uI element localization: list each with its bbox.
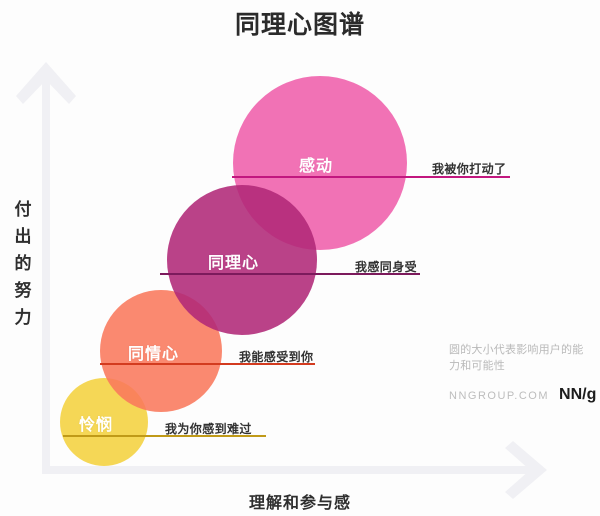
y-axis-title-char: 努 (10, 277, 36, 304)
brand-logo: NNGROUP.COM NN/g (449, 386, 596, 404)
y-axis-title-char: 的 (10, 250, 36, 277)
callout-quote-tongqingxin: 我能感受到你 (239, 348, 313, 365)
bubble-label-lianmin: 怜悯 (79, 411, 113, 435)
footnote-text: 圆的大小代表影响用户的能力和可能性 (449, 342, 594, 374)
y-axis-title-char: 力 (10, 304, 36, 331)
callout-quote-tonglixin: 我感同身受 (355, 258, 417, 275)
y-axis-title: 付出的努力 (10, 196, 36, 331)
bubble-label-ganddong: 感动 (299, 152, 333, 176)
y-axis-title-char: 付 (10, 196, 36, 223)
brand-domain: NNGROUP.COM (449, 390, 549, 402)
empathy-chart-canvas: 同理心图谱 感动 同理心 同情心 怜悯 (0, 0, 600, 516)
bubbles-layer (0, 0, 600, 516)
bubble-label-tonglixin: 同理心 (208, 249, 259, 273)
y-axis-title-char: 出 (10, 223, 36, 250)
brand-mark: NN/g (559, 386, 596, 404)
callout-quote-ganddong: 我被你打动了 (432, 160, 506, 177)
callout-quote-lianmin: 我为你感到难过 (165, 420, 252, 437)
bubble-label-tongqingxin: 同情心 (128, 340, 179, 364)
x-axis-title: 理解和参与感 (0, 489, 600, 513)
